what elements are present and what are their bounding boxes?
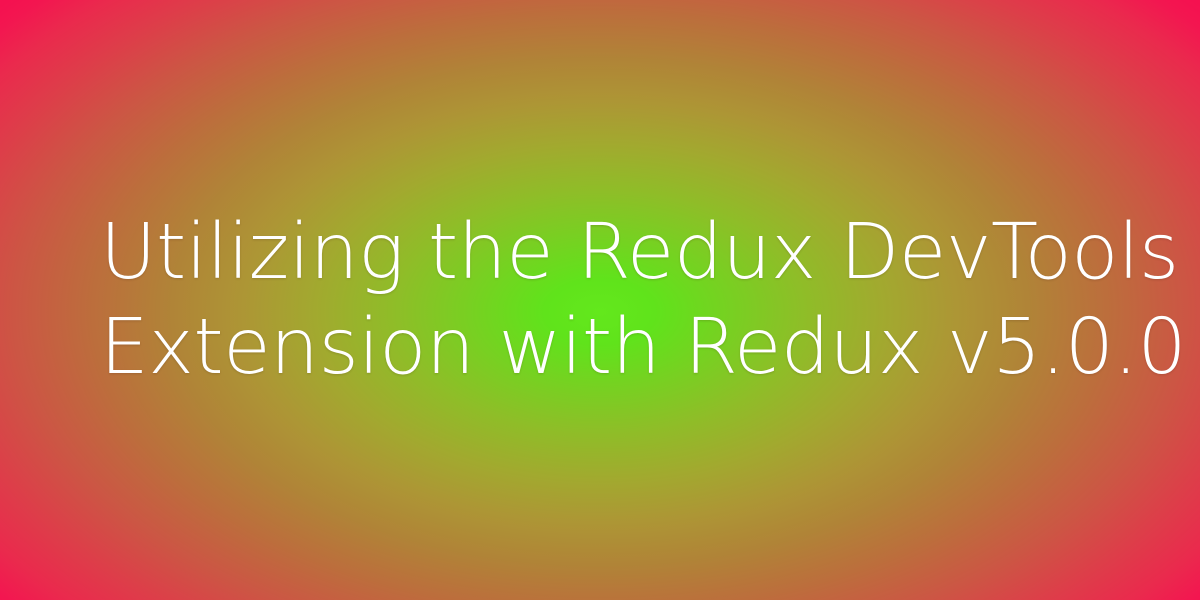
- banner-card: Utilizing the Redux DevTools Extension w…: [0, 0, 1200, 600]
- page-title: Utilizing the Redux DevTools Extension w…: [100, 205, 1100, 395]
- banner-content: Utilizing the Redux DevTools Extension w…: [0, 0, 1200, 600]
- title-line-2: Extension with Redux v5.0.0: [100, 300, 1100, 395]
- title-line-1: Utilizing the Redux DevTools: [100, 205, 1100, 300]
